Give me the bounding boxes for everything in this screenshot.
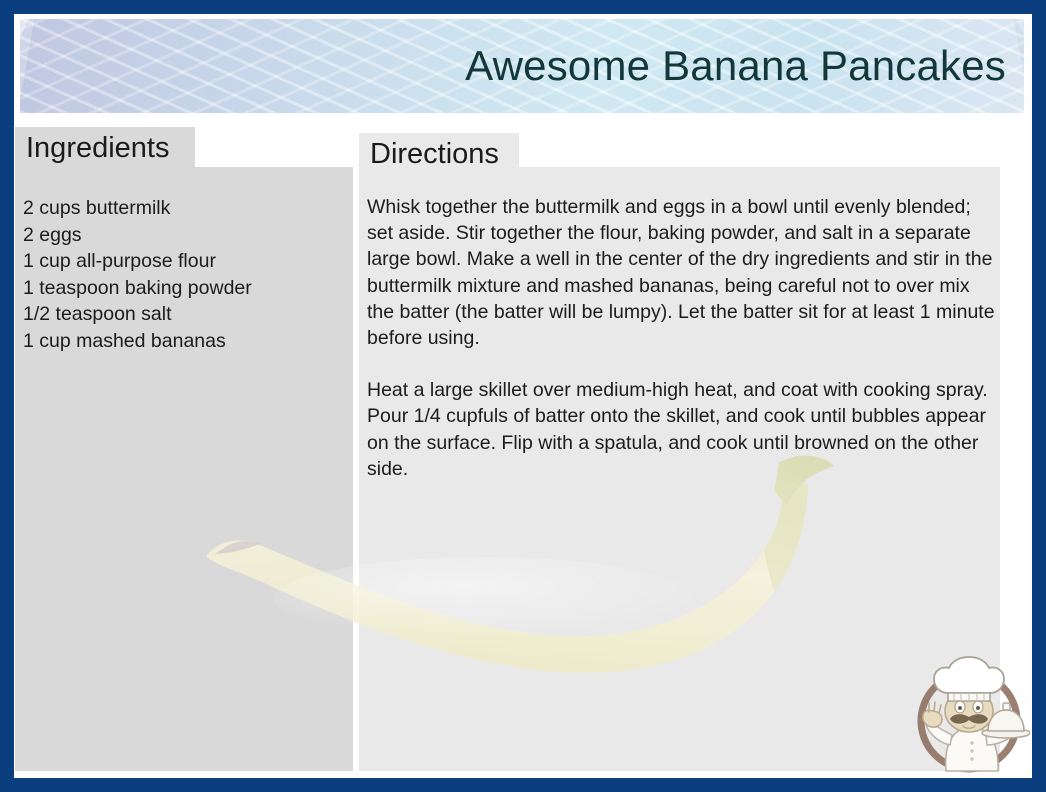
recipe-slide: Awesome Banana Pancakes Ingredients Dire…: [0, 0, 1046, 792]
ingredients-list: 2 cups buttermilk 2 eggs 1 cup all-purpo…: [23, 195, 343, 355]
page-title: Awesome Banana Pancakes: [465, 42, 1006, 90]
header-banner: Awesome Banana Pancakes: [20, 19, 1024, 113]
list-item: 2 cups buttermilk: [23, 195, 343, 222]
direction-paragraph: Whisk together the buttermilk and eggs i…: [367, 194, 999, 351]
list-item: 1/2 teaspoon salt: [23, 301, 343, 328]
directions-heading-tab: Directions: [359, 133, 519, 175]
ingredients-heading-tab: Ingredients: [15, 127, 195, 169]
ingredients-heading-label: Ingredients: [26, 134, 170, 163]
list-item: 1 teaspoon baking powder: [23, 275, 343, 302]
directions-heading-label: Directions: [370, 140, 499, 169]
list-item: 2 eggs: [23, 222, 343, 249]
list-item: 1 cup mashed bananas: [23, 328, 343, 355]
chef-logo-icon: [908, 655, 1030, 777]
direction-paragraph: Heat a large skillet over medium-high he…: [367, 377, 999, 482]
list-item: 1 cup all-purpose flour: [23, 248, 343, 275]
directions-text: Whisk together the buttermilk and eggs i…: [367, 194, 999, 508]
